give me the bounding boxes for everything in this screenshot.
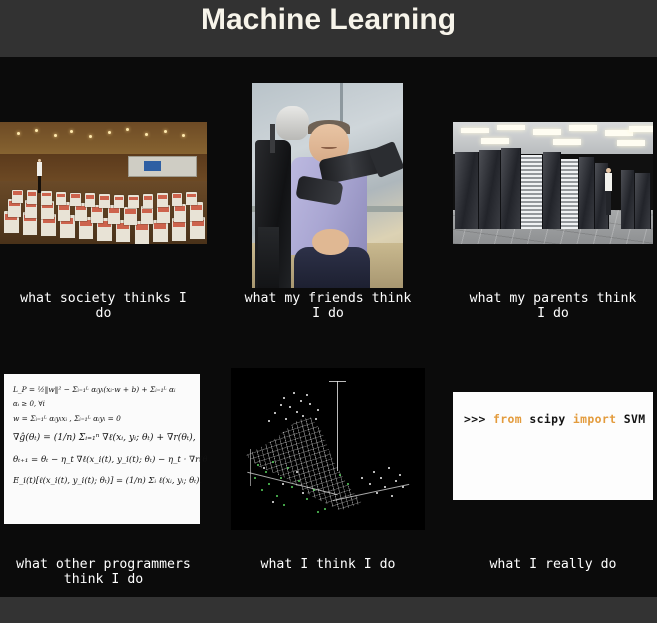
code-token-from: from [493, 412, 529, 426]
meme-page: Machine Learning [0, 0, 657, 623]
caption-friends: what my friends think I do [231, 291, 425, 321]
server-rack-row [453, 139, 653, 229]
equation-line-1: L_P = ½‖w‖² − Σᵢ₌₁ᴸ αᵢyᵢ(xᵢ·w + b) + Σᵢ₌… [13, 385, 193, 394]
python-terminal-photo: >>> from scipy import SVM [453, 392, 653, 500]
hall-lamps [0, 126, 207, 148]
robot-lower-frame [258, 227, 279, 289]
svm-surface-plot-photo [231, 368, 425, 530]
man-with-robot-photo [252, 83, 403, 288]
equation-line-5: θₜ₊₁ = θₜ − η_t ∇ℓ(x_i(t), y_i(t); θₜ) −… [13, 454, 193, 465]
equation-line-2: αᵢ ≥ 0, ∀i [13, 400, 193, 408]
code-prompt: >>> [464, 412, 493, 426]
assembly-hall-photo [0, 122, 207, 244]
supercomputer-room-photo [453, 122, 653, 244]
caption-i-really: what I really do [449, 557, 657, 572]
caption-i-think: what I think I do [231, 557, 425, 572]
title-band: Machine Learning [0, 0, 657, 57]
man-smile [321, 145, 336, 149]
math-equations-photo: L_P = ½‖w‖² − Σᵢ₌₁ᴸ αᵢyᵢ(xᵢ·w + b) + Σᵢ₌… [0, 368, 207, 530]
meme-grid: what society thinks I do what [0, 57, 657, 597]
decision-surface-mesh [246, 415, 399, 510]
robot-neck [270, 124, 275, 153]
hall-speaker-person [37, 159, 42, 193]
robot-head [276, 106, 309, 141]
caption-parents: what my parents think I do [449, 291, 657, 321]
caption-other-programmers: what other programmers think I do [0, 557, 207, 587]
code-token-svm: SVM [624, 412, 646, 426]
equations-sheet: L_P = ½‖w‖² − Σᵢ₌₁ᴸ αᵢyᵢ(xᵢ·w + b) + Σᵢ₌… [4, 374, 200, 524]
equation-line-3: w = Σᵢ₌₁ᴸ αᵢyᵢxᵢ , Σᵢ₌₁ᴸ αᵢyᵢ = 0 [13, 414, 193, 423]
server-room-technician [605, 168, 612, 224]
code-token-import: import [573, 412, 624, 426]
hall-machine-rows [0, 168, 207, 244]
code-line: >>> from scipy import SVM [464, 412, 645, 426]
equation-line-4: ∇ĝ(θₜ) = (1/n) Σᵢ₌₁ⁿ ∇ℓ(xᵢ, yᵢ; θₜ) + ∇r… [13, 432, 193, 443]
terminal-window: >>> from scipy import SVM [453, 392, 653, 500]
plot-canvas [235, 372, 421, 526]
code-token-scipy: scipy [529, 412, 573, 426]
man-clasped-hands [312, 229, 348, 256]
page-title: Machine Learning [0, 3, 657, 37]
equation-line-6: E_i(t)[ℓ(x_i(t), y_i(t); θₜ)] = (1/n) Σᵢ… [13, 475, 193, 485]
caption-society: what society thinks I do [0, 291, 207, 321]
plot-vertical-pole [337, 381, 338, 470]
